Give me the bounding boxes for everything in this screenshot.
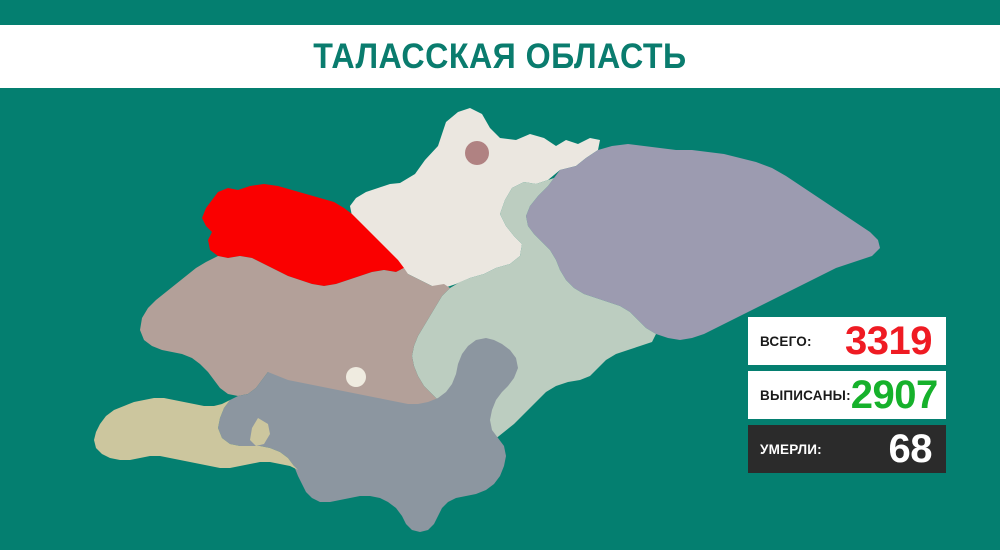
stat-row-died: УМЕРЛИ: 68 (748, 425, 946, 473)
stat-value-died: 68 (889, 429, 933, 469)
infographic-root: ТАЛАССКАЯ ОБЛАСТЬ ВСЕГО: (0, 0, 1000, 550)
stat-row-recovered: ВЫПИСАНЫ: 2907 (748, 371, 946, 419)
marker-osh[interactable] (346, 367, 366, 387)
stat-label-died: УМЕРЛИ: (760, 442, 822, 457)
stat-row-total: ВСЕГО: 3319 (748, 317, 946, 365)
title-band: ТАЛАССКАЯ ОБЛАСТЬ (0, 25, 1000, 88)
stat-label-recovered: ВЫПИСАНЫ: (760, 388, 851, 403)
stats-panel: ВСЕГО: 3319 ВЫПИСАНЫ: 2907 УМЕРЛИ: 68 (748, 317, 946, 473)
top-accent-strip (0, 0, 1000, 25)
marker-bishkek[interactable] (465, 141, 489, 165)
stat-value-total: 3319 (845, 321, 932, 361)
stat-value-recovered: 2907 (851, 375, 938, 415)
stat-label-total: ВСЕГО: (760, 334, 812, 349)
page-title: ТАЛАССКАЯ ОБЛАСТЬ (313, 37, 686, 77)
